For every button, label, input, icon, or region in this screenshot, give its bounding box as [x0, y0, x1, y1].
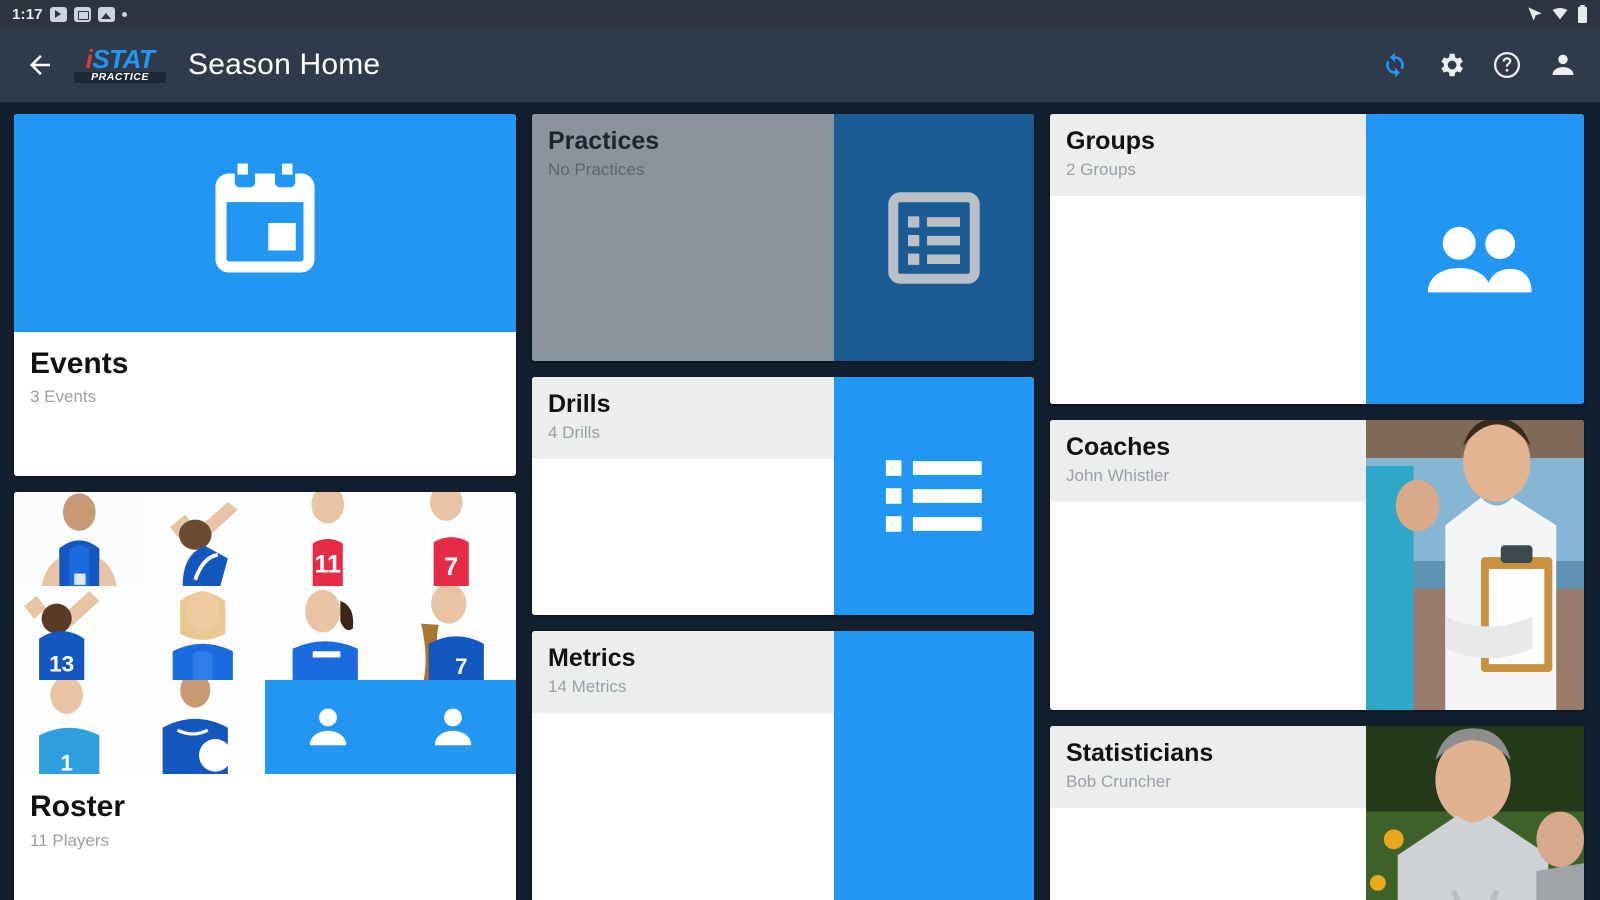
person-icon	[302, 701, 354, 753]
player-photo: 13	[14, 586, 140, 680]
card-roster[interactable]: 11 7 13 7 1	[14, 492, 516, 900]
coaches-head: Coaches John Whistler	[1050, 420, 1366, 502]
metrics-icon-panel	[834, 631, 1034, 900]
player-placeholder	[391, 680, 517, 774]
events-media	[14, 114, 516, 332]
player-photo: 1	[14, 680, 140, 774]
back-arrow-icon	[25, 50, 55, 80]
svg-text:11: 11	[314, 550, 341, 578]
help-icon[interactable]	[1492, 50, 1522, 80]
app-bar-actions	[1380, 50, 1578, 80]
player-photo	[265, 586, 391, 680]
message-notification-icon	[74, 7, 91, 22]
location-icon	[1527, 6, 1543, 22]
app-logo: iSTAT PRACTICE	[74, 45, 166, 85]
play-notification-icon	[50, 7, 67, 22]
drills-left: Drills 4 Drills	[532, 377, 834, 615]
coaches-title: Coaches	[1066, 434, 1350, 460]
list-icon	[879, 448, 989, 544]
back-button[interactable]	[18, 43, 62, 87]
card-drills[interactable]: Drills 4 Drills	[532, 377, 1034, 615]
events-body: Events 3 Events	[14, 332, 516, 476]
player-photo: 7	[391, 492, 517, 586]
groups-subtitle: 2 Groups	[1066, 160, 1350, 180]
card-metrics[interactable]: Metrics 14 Metrics	[532, 631, 1034, 900]
gear-icon[interactable]	[1436, 50, 1466, 80]
card-groups[interactable]: Groups 2 Groups	[1050, 114, 1584, 404]
statisticians-photo	[1366, 726, 1584, 900]
practices-icon-panel	[834, 114, 1034, 361]
roster-title: Roster	[30, 790, 500, 824]
calendar-icon	[199, 157, 331, 289]
groups-left: Groups 2 Groups	[1050, 114, 1366, 404]
card-events[interactable]: Events 3 Events	[14, 114, 516, 476]
statisticians-head: Statisticians Bob Cruncher	[1050, 726, 1366, 808]
player-photo	[140, 680, 266, 774]
player-photo: 7	[391, 586, 517, 680]
wifi-icon	[1551, 6, 1569, 22]
drills-subtitle: 4 Drills	[548, 423, 818, 443]
card-statisticians[interactable]: Statisticians Bob Cruncher	[1050, 726, 1584, 900]
drills-head: Drills 4 Drills	[532, 377, 834, 459]
player-placeholder	[265, 680, 391, 774]
card-coaches[interactable]: Coaches John Whistler	[1050, 420, 1584, 710]
coaches-photo	[1366, 420, 1584, 710]
statisticians-subtitle: Bob Cruncher	[1066, 772, 1350, 792]
roster-subtitle: 11 Players	[30, 831, 500, 851]
groups-head: Groups 2 Groups	[1050, 114, 1366, 196]
drills-icon-panel	[834, 377, 1034, 615]
logo-secondary: STAT	[92, 44, 154, 74]
coaches-subtitle: John Whistler	[1066, 466, 1350, 486]
drills-title: Drills	[548, 391, 818, 417]
metrics-title: Metrics	[548, 645, 818, 671]
practices-head: Practices No Practices	[532, 114, 834, 196]
practices-left: Practices No Practices	[532, 114, 834, 361]
dashboard-grid: Events 3 Events 11 7 13	[0, 102, 1600, 900]
middle-column: Practices No Practices Drill	[532, 114, 1034, 900]
person-icon	[427, 701, 479, 753]
sync-icon[interactable]	[1380, 50, 1410, 80]
svg-text:7: 7	[444, 553, 458, 581]
svg-text:13: 13	[49, 651, 74, 676]
svg-text:7: 7	[454, 654, 467, 679]
app-bar: iSTAT PRACTICE Season Home	[0, 28, 1600, 102]
practices-title: Practices	[548, 128, 818, 154]
people-icon	[1416, 214, 1534, 304]
image-notification-icon	[98, 7, 115, 22]
logo-tagline: PRACTICE	[74, 72, 166, 84]
status-bar: 1:17	[0, 0, 1600, 28]
status-bar-left: 1:17	[12, 6, 127, 23]
metrics-left: Metrics 14 Metrics	[532, 631, 834, 900]
status-bar-right	[1527, 5, 1588, 23]
metrics-head: Metrics 14 Metrics	[532, 631, 834, 713]
groups-title: Groups	[1066, 128, 1350, 154]
svg-text:1: 1	[60, 751, 73, 775]
groups-icon-panel	[1366, 114, 1584, 404]
statisticians-left: Statisticians Bob Cruncher	[1050, 726, 1366, 900]
practices-subtitle: No Practices	[548, 160, 818, 180]
card-practices: Practices No Practices	[532, 114, 1034, 361]
dot-notification-icon	[122, 12, 127, 17]
metrics-subtitle: 14 Metrics	[548, 677, 818, 697]
statisticians-title: Statisticians	[1066, 740, 1350, 766]
events-title: Events	[30, 348, 500, 380]
right-column: Groups 2 Groups Coaches John Whistler	[1050, 114, 1584, 900]
battery-icon	[1577, 5, 1588, 23]
logo-wordmark: iSTAT	[86, 47, 155, 72]
events-subtitle: 3 Events	[30, 387, 500, 407]
list-box-icon	[882, 186, 986, 290]
roster-body: Roster 11 Players	[14, 774, 516, 851]
coaches-left: Coaches John Whistler	[1050, 420, 1366, 710]
player-photo-grid: 11 7 13 7 1	[14, 492, 516, 774]
clock: 1:17	[12, 6, 43, 23]
account-icon[interactable]	[1548, 50, 1578, 80]
left-column: Events 3 Events 11 7 13	[14, 114, 516, 900]
player-photo	[14, 492, 140, 586]
player-photo	[140, 586, 266, 680]
player-photo	[140, 492, 266, 586]
page-title: Season Home	[188, 48, 380, 82]
player-photo: 11	[265, 492, 391, 586]
